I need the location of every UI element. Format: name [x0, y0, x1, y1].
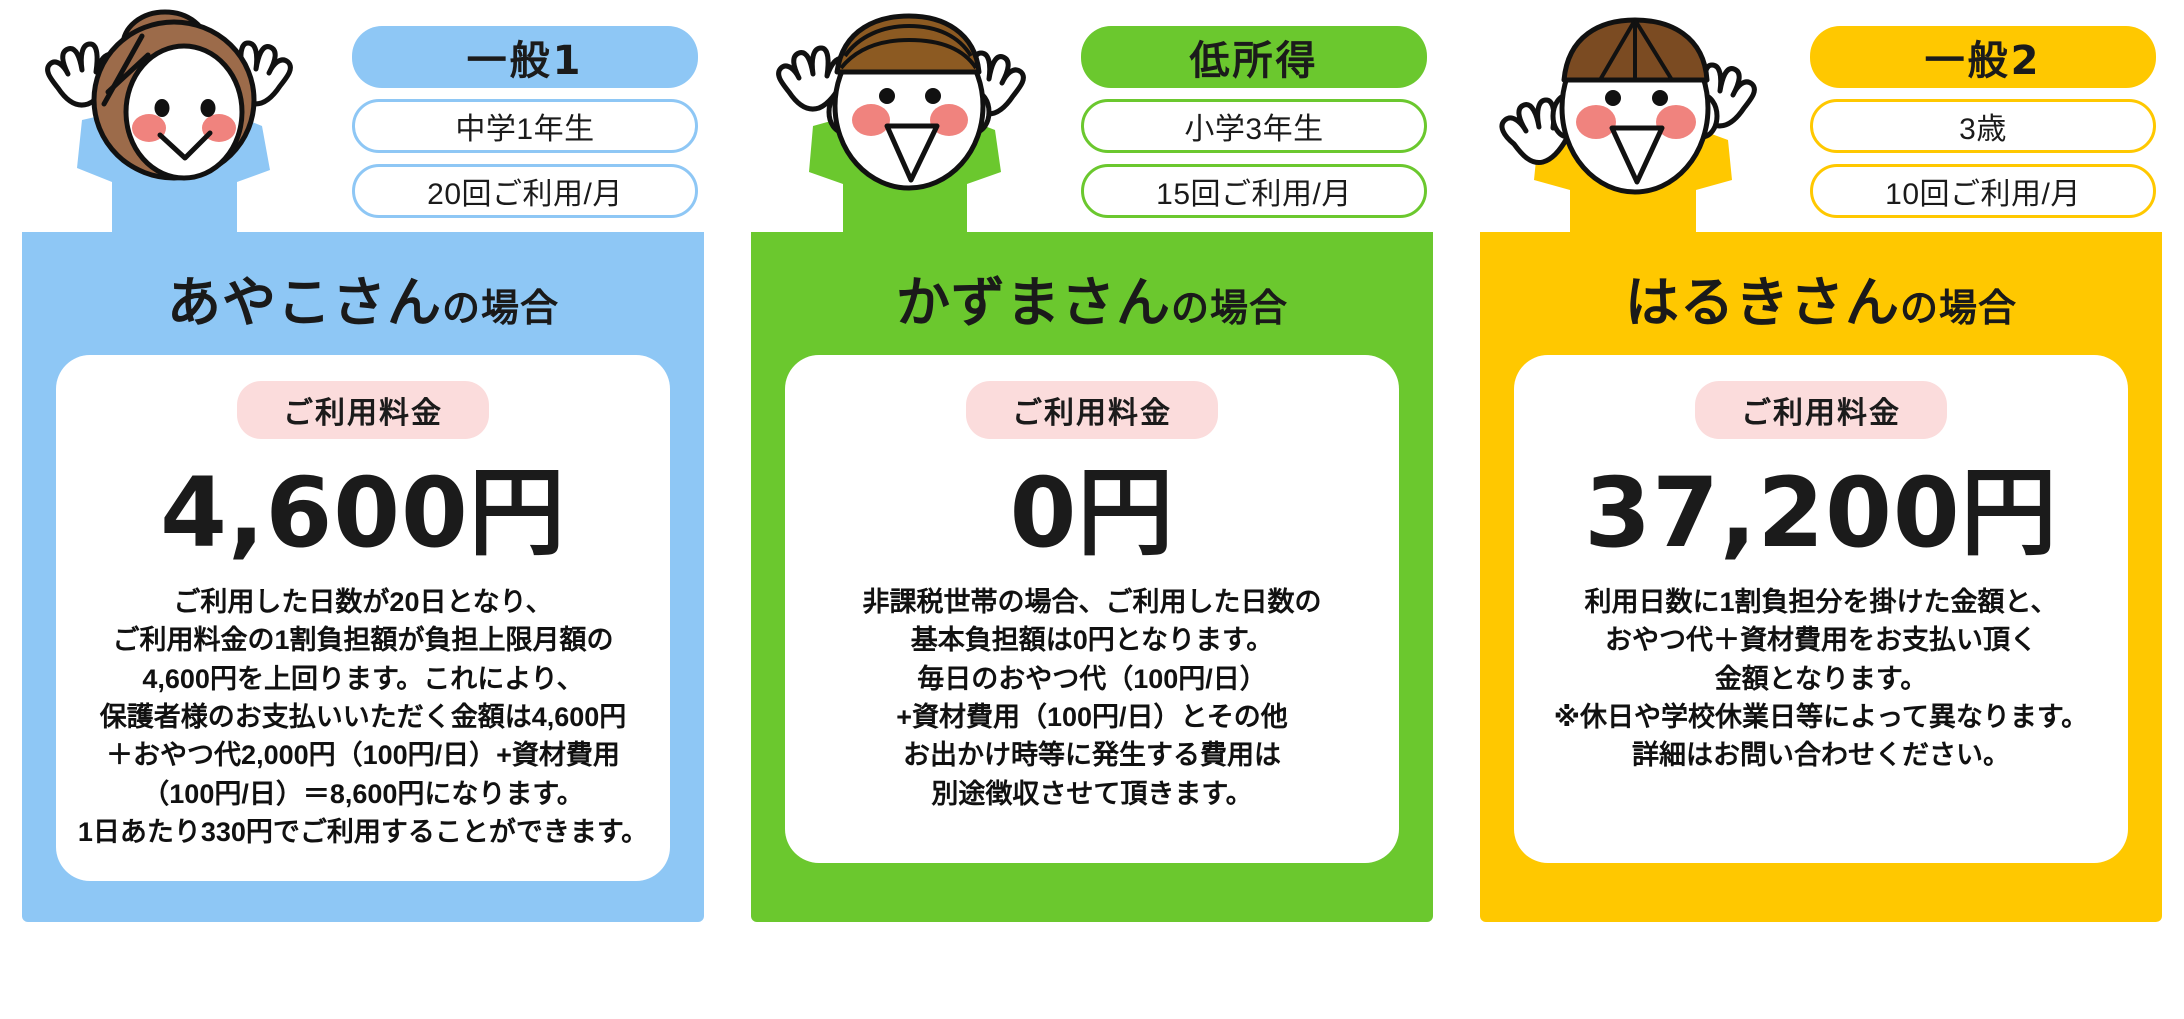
grade-pill: 3歳 [1810, 99, 2156, 153]
boy-striped-hat-waving-icon [751, 0, 1081, 232]
price-value: 37,200円 [1584, 465, 2057, 561]
person-suffix: の場合 [442, 286, 559, 330]
category-pill: 一般2 [1810, 26, 2156, 88]
pricing-card-haruki: 一般2 3歳 10回ご利用/月 はるきさんの場合 ご利用料金 37,200円 利… [1480, 0, 2162, 1019]
fee-note: 非課税世帯の場合、ご利用した日数の 基本負担額は0円となります。 毎日のおやつ代… [863, 583, 1322, 813]
pricing-card-ayako: 一般1 中学1年生 20回ご利用/月 あやこさんの場合 ご利用料金 4,600円… [22, 0, 704, 1019]
fee-label-badge: ご利用料金 [966, 381, 1218, 439]
category-pill: 一般1 [352, 26, 698, 88]
fee-box: ご利用料金 0円 非課税世帯の場合、ご利用した日数の 基本負担額は0円となります… [785, 355, 1399, 863]
usage-label: 15回ご利用/月 [1156, 169, 1352, 213]
card-body-panel: はるきさんの場合 ご利用料金 37,200円 利用日数に1割負担分を掛けた金額と… [1480, 232, 2162, 922]
category-label: 一般2 [1925, 28, 2042, 86]
card-top-row: 一般1 中学1年生 20回ご利用/月 [22, 0, 704, 232]
person-heading: かずまさんの場合 [751, 232, 1433, 355]
usage-label: 10回ご利用/月 [1885, 169, 2081, 213]
card-body-panel: あやこさんの場合 ご利用料金 4,600円 ご利用した日数が20日となり、 ご利… [22, 232, 704, 922]
boy-bowl-hat-waving-icon [1480, 0, 1810, 232]
category-label: 低所得 [1190, 28, 1319, 86]
card-body-panel: かずまさんの場合 ご利用料金 0円 非課税世帯の場合、ご利用した日数の 基本負担… [751, 232, 1433, 922]
fee-note: ご利用した日数が20日となり、 ご利用料金の1割負担額が負担上限月額の 4,60… [78, 583, 648, 851]
fee-label-badge: ご利用料金 [237, 381, 489, 439]
card-pill-group: 一般1 中学1年生 20回ご利用/月 [352, 0, 704, 218]
category-label: 一般1 [467, 28, 584, 86]
person-name: あやこさん [167, 271, 442, 334]
person-name: はるきさん [1625, 271, 1900, 334]
fee-box: ご利用料金 37,200円 利用日数に1割負担分を掛けた金額と、 おやつ代＋資材… [1514, 355, 2128, 863]
grade-pill: 中学1年生 [352, 99, 698, 153]
card-top-row: 一般2 3歳 10回ご利用/月 [1480, 0, 2162, 232]
person-heading: はるきさんの場合 [1480, 232, 2162, 355]
pricing-comparison-board: 一般1 中学1年生 20回ご利用/月 あやこさんの場合 ご利用料金 4,600円… [0, 0, 2184, 1019]
grade-label: 小学3年生 [1184, 104, 1323, 148]
card-pill-group: 一般2 3歳 10回ご利用/月 [1810, 0, 2162, 218]
fee-note: 利用日数に1割負担分を掛けた金額と、 おやつ代＋資材費用をお支払い頂く 金額とな… [1554, 583, 2088, 775]
girl-bun-hair-waving-icon [22, 0, 352, 232]
category-pill: 低所得 [1081, 26, 1427, 88]
usage-pill: 20回ご利用/月 [352, 164, 698, 218]
fee-label-badge: ご利用料金 [1695, 381, 1947, 439]
price-value: 4,600円 [160, 465, 566, 561]
fee-box: ご利用料金 4,600円 ご利用した日数が20日となり、 ご利用料金の1割負担額… [56, 355, 670, 881]
person-heading: あやこさんの場合 [22, 232, 704, 355]
person-suffix: の場合 [1171, 286, 1288, 330]
grade-pill: 小学3年生 [1081, 99, 1427, 153]
usage-pill: 10回ご利用/月 [1810, 164, 2156, 218]
usage-pill: 15回ご利用/月 [1081, 164, 1427, 218]
usage-label: 20回ご利用/月 [427, 169, 623, 213]
person-name: かずまさん [896, 271, 1171, 334]
grade-label: 中学1年生 [455, 104, 594, 148]
price-value: 0円 [1010, 465, 1175, 561]
card-top-row: 低所得 小学3年生 15回ご利用/月 [751, 0, 1433, 232]
pricing-card-kazuma: 低所得 小学3年生 15回ご利用/月 かずまさんの場合 ご利用料金 0円 非課税… [751, 0, 1433, 1019]
card-pill-group: 低所得 小学3年生 15回ご利用/月 [1081, 0, 1433, 218]
grade-label: 3歳 [1959, 104, 2007, 148]
person-suffix: の場合 [1900, 286, 2017, 330]
